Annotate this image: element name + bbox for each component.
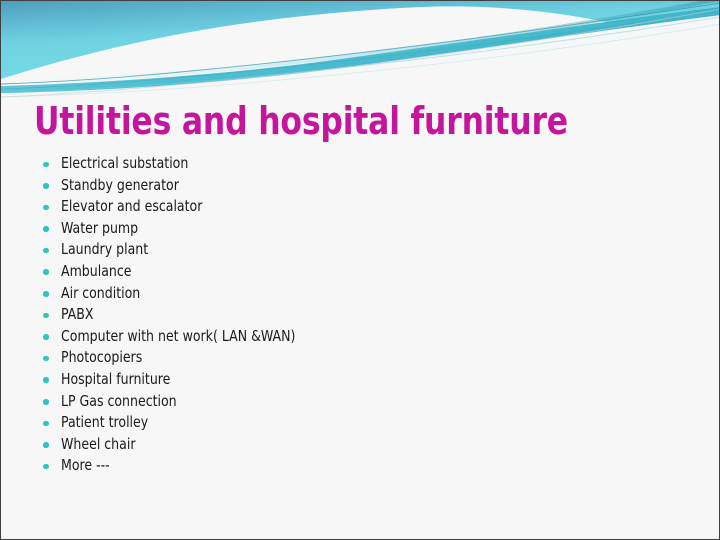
list-item: PABX: [39, 304, 679, 326]
bullet-dot-icon: [43, 377, 49, 383]
list-item-label: More ---: [61, 455, 110, 477]
list-item-label: Wheel chair: [61, 434, 135, 456]
bullet-dot-icon: [43, 291, 49, 297]
bullet-dot-icon: [43, 248, 49, 254]
bullet-dot-icon: [43, 226, 49, 232]
list-item-label: Elevator and escalator: [61, 196, 202, 218]
list-item: LP Gas connection: [39, 391, 679, 413]
bullet-dot-icon: [43, 269, 49, 275]
list-item: Elevator and escalator: [39, 196, 679, 218]
wave-header-graphic: [1, 1, 720, 111]
list-item: Electrical substation: [39, 153, 679, 175]
bullet-dot-icon: [43, 399, 49, 405]
bullet-dot-icon: [43, 205, 49, 211]
presentation-slide: Utilities and hospital furniture Electri…: [0, 0, 720, 540]
list-item: Hospital furniture: [39, 369, 679, 391]
list-item: Water pump: [39, 218, 679, 240]
bullet-dot-icon: [43, 421, 49, 427]
bullet-dot-icon: [43, 313, 49, 319]
slide-title: Utilities and hospital furniture: [34, 99, 632, 143]
list-item-label: Computer with net work( LAN &WAN): [61, 326, 295, 348]
list-item: Wheel chair: [39, 434, 679, 456]
list-item: Photocopiers: [39, 347, 679, 369]
list-item: Laundry plant: [39, 239, 679, 261]
list-item: Ambulance: [39, 261, 679, 283]
bullet-dot-icon: [43, 162, 49, 168]
list-item: Standby generator: [39, 175, 679, 197]
list-item-label: Patient trolley: [61, 412, 148, 434]
bullet-dot-icon: [43, 442, 49, 448]
bullet-dot-icon: [43, 334, 49, 340]
list-item-label: Water pump: [61, 218, 138, 240]
list-item-label: Photocopiers: [61, 347, 142, 369]
list-item: More ---: [39, 455, 679, 477]
bullet-dot-icon: [43, 356, 49, 362]
list-item-label: Electrical substation: [61, 153, 188, 175]
bullet-list: Electrical substation Standby generator …: [39, 153, 679, 477]
bullet-dot-icon: [43, 183, 49, 189]
list-item-label: Ambulance: [61, 261, 132, 283]
list-item-label: PABX: [61, 304, 93, 326]
list-item-label: LP Gas connection: [61, 391, 177, 413]
list-item: Computer with net work( LAN &WAN): [39, 326, 679, 348]
list-item: Air condition: [39, 283, 679, 305]
list-item: Patient trolley: [39, 412, 679, 434]
list-item-label: Air condition: [61, 283, 140, 305]
list-item-label: Hospital furniture: [61, 369, 170, 391]
list-item-label: Standby generator: [61, 175, 179, 197]
list-item-label: Laundry plant: [61, 239, 148, 261]
bullet-dot-icon: [43, 464, 49, 470]
